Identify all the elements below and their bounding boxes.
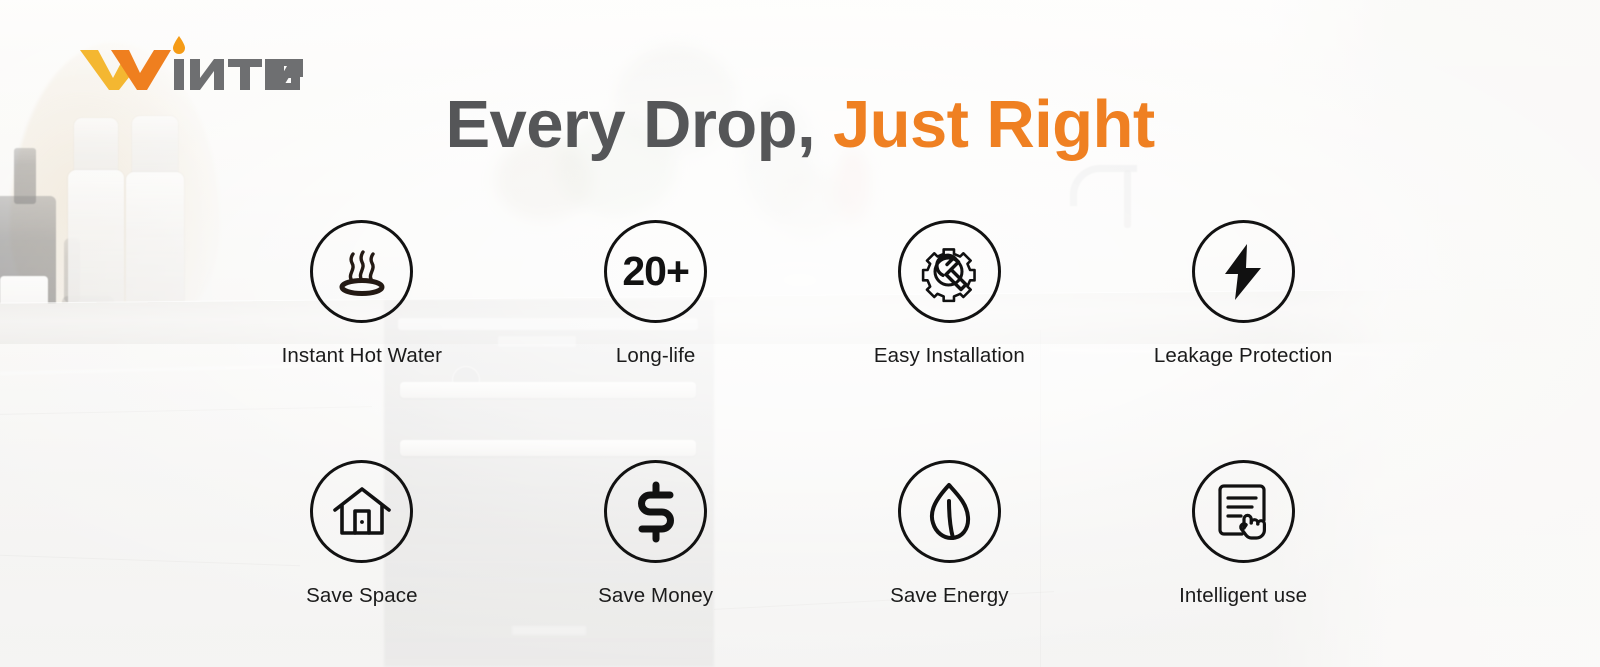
promo-banner: Every Drop, Just Right <box>0 0 1600 667</box>
feature-save-space[interactable]: Save Space <box>215 460 509 608</box>
feature-circle <box>898 220 1001 323</box>
feature-label: Save Money <box>598 584 713 608</box>
document-tap-icon <box>1214 482 1272 542</box>
dollar-sign-icon <box>629 481 683 543</box>
feature-long-life[interactable]: 20+ Long-life <box>509 220 803 368</box>
feature-circle <box>898 460 1001 563</box>
feature-circle <box>310 460 413 563</box>
headline-gray-part: Every Drop, <box>445 87 815 162</box>
feature-circle <box>1192 460 1295 563</box>
twenty-plus-badge: 20+ <box>622 251 689 292</box>
feature-circle <box>1192 220 1295 323</box>
leaf-icon <box>924 481 974 543</box>
feature-circle <box>310 220 413 323</box>
feature-label: Instant Hot Water <box>282 344 442 368</box>
headline: Every Drop, Just Right <box>0 91 1600 158</box>
feature-save-energy[interactable]: Save Energy <box>803 460 1097 608</box>
feature-label: Easy Installation <box>874 344 1025 368</box>
steam-hot-water-icon <box>331 241 393 303</box>
feature-label: Save Energy <box>890 584 1008 608</box>
lightning-bolt-icon <box>1215 242 1271 302</box>
feature-instant-hot-water[interactable]: Instant Hot Water <box>215 220 509 368</box>
feature-label: Intelligent use <box>1179 584 1307 608</box>
feature-row-1: Instant Hot Water 20+ Long-life <box>215 220 1390 368</box>
feature-grid: Instant Hot Water 20+ Long-life <box>215 220 1390 608</box>
feature-save-money[interactable]: Save Money <box>509 460 803 608</box>
feature-easy-installation[interactable]: Easy Installation <box>803 220 1097 368</box>
headline-orange-part: Just Right <box>833 87 1155 162</box>
gear-wrench-icon <box>917 240 981 304</box>
wintemp-logo[interactable] <box>78 33 303 91</box>
feature-circle <box>604 460 707 563</box>
house-icon <box>331 483 393 541</box>
feature-row-2: Save Space Save Money <box>215 460 1390 608</box>
feature-circle: 20+ <box>604 220 707 323</box>
feature-label: Leakage Protection <box>1154 344 1332 368</box>
feature-intelligent-use[interactable]: Intelligent use <box>1096 460 1390 608</box>
feature-label: Save Space <box>306 584 418 608</box>
feature-label: Long-life <box>616 344 696 368</box>
feature-leakage-protection[interactable]: Leakage Protection <box>1096 220 1390 368</box>
